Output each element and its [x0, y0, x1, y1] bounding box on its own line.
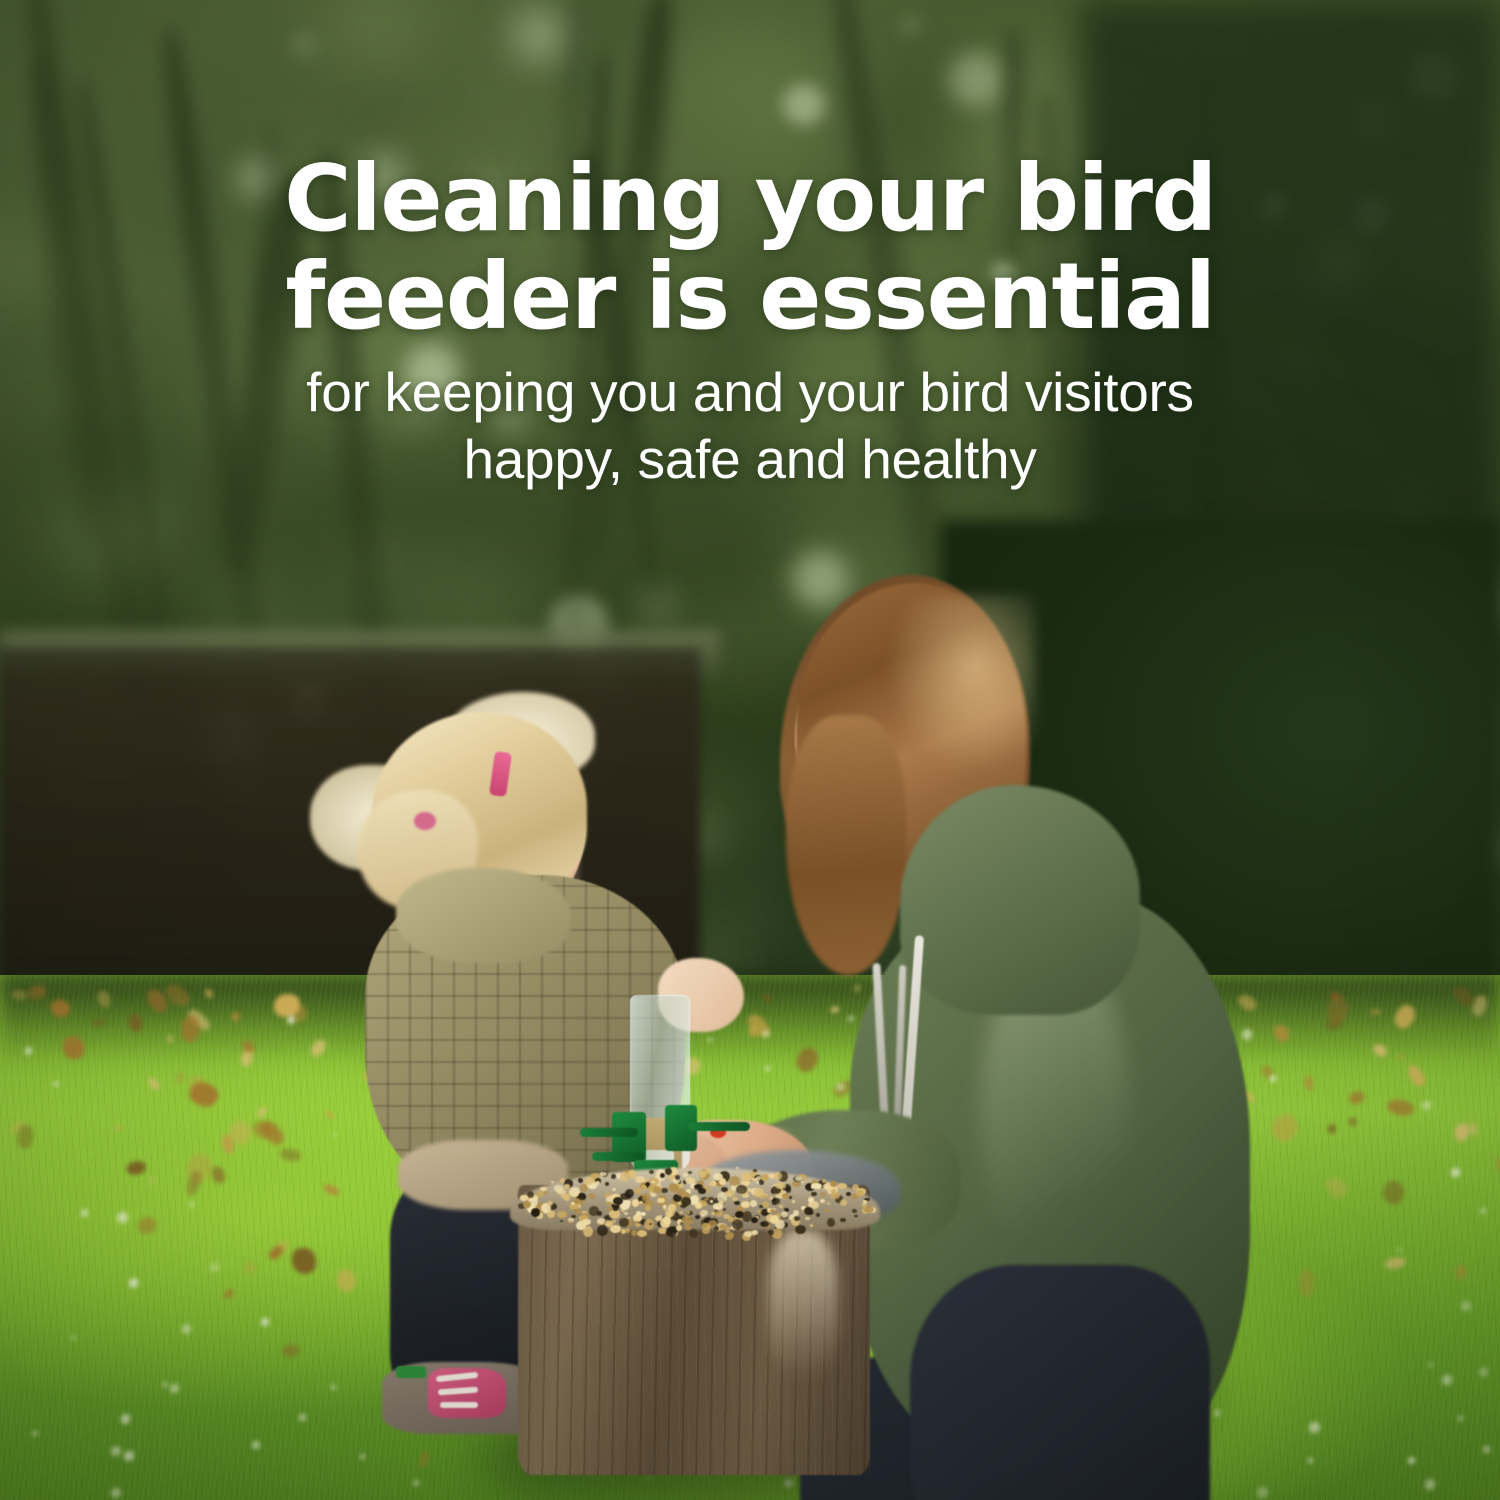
bird-seed	[578, 1178, 583, 1183]
bird-seed	[741, 1201, 750, 1208]
bird-seed	[561, 1193, 567, 1199]
child-jacket-hood	[396, 868, 571, 963]
bird-seed	[637, 1230, 647, 1237]
bird-seed	[762, 1201, 770, 1208]
bird-seed	[649, 1170, 654, 1174]
bird-seed	[571, 1202, 575, 1205]
bird-seed	[825, 1209, 828, 1212]
bird-seed	[537, 1191, 542, 1196]
tree-stump-highlight	[768, 1230, 838, 1380]
bird-seed	[770, 1215, 779, 1224]
bird-seed	[753, 1169, 757, 1172]
bird-seed	[827, 1202, 830, 1204]
grass-light-speck	[1309, 1422, 1320, 1433]
promo-image: ★ ★ ★ ★ ★	[0, 0, 1500, 1500]
bird-seed	[820, 1192, 825, 1197]
bird-seed	[794, 1216, 800, 1220]
feeder-perch-right	[688, 1122, 750, 1131]
bird-seed	[751, 1217, 757, 1223]
bird-seed	[595, 1181, 600, 1184]
grass-light-speck	[163, 1382, 167, 1386]
bird-seed	[635, 1223, 641, 1227]
child-boot-green-tab	[396, 1366, 426, 1378]
bird-seed	[619, 1218, 628, 1228]
bird-seed	[820, 1199, 825, 1203]
headline: Cleaning your bird feeder is essential	[0, 0, 1500, 345]
bird-seed	[801, 1181, 804, 1184]
bird-seed	[635, 1188, 641, 1194]
bird-seed	[761, 1210, 767, 1214]
bird-seed	[711, 1212, 715, 1215]
bird-seed	[770, 1209, 775, 1213]
grass-light-speck	[32, 1431, 38, 1437]
bird-seed	[679, 1211, 682, 1214]
bird-seed	[641, 1185, 646, 1190]
woman-leg-front	[910, 1265, 1210, 1500]
feeder-perch-left	[580, 1128, 638, 1137]
bird-seed	[732, 1197, 737, 1201]
grass-light-speck	[1451, 1168, 1460, 1177]
bird-seed	[660, 1218, 669, 1228]
bird-seed	[811, 1192, 816, 1197]
headline-line-1: Cleaning your bird	[284, 145, 1216, 252]
grass-light-speck	[129, 1278, 139, 1288]
bird-seed	[752, 1230, 757, 1235]
bird-seed	[704, 1198, 708, 1201]
bird-seed	[718, 1201, 724, 1206]
bird-seed	[635, 1176, 645, 1182]
grass-light-speck	[189, 1202, 193, 1206]
bird-seed	[612, 1220, 616, 1223]
grass-light-speck	[1480, 1208, 1486, 1214]
bird-seed	[772, 1201, 778, 1205]
bird-seed	[736, 1185, 747, 1193]
bird-seed	[708, 1182, 715, 1186]
bird-seed	[840, 1218, 846, 1222]
bird-seed	[685, 1225, 691, 1229]
grass-light-speck	[1308, 1458, 1313, 1463]
bird-seed	[613, 1197, 624, 1205]
bird-seed	[748, 1188, 752, 1193]
bird-seed	[665, 1168, 672, 1175]
grass-light-speck	[182, 1324, 192, 1334]
bird-seed	[729, 1176, 740, 1185]
bird-seed	[719, 1178, 725, 1185]
bird-seed	[721, 1187, 728, 1192]
bird-seed	[657, 1198, 664, 1203]
bird-seed	[639, 1201, 643, 1203]
bird-seed	[852, 1209, 857, 1212]
bird-seed	[681, 1197, 691, 1205]
grass-light-speck	[81, 1209, 88, 1216]
bird-seed	[642, 1193, 650, 1202]
subheadline-line-2: happy, safe and healthy	[0, 426, 1500, 493]
grass-light-speck	[170, 1384, 179, 1393]
bird-seed	[856, 1190, 864, 1196]
bird-seed	[695, 1215, 700, 1218]
text-overlay: Cleaning your bird feeder is essential f…	[0, 0, 1500, 493]
bird-seed	[695, 1202, 702, 1208]
grass-light-speck	[1270, 1075, 1276, 1081]
bird-seed	[702, 1228, 709, 1234]
bird-seed	[702, 1223, 707, 1227]
grass-light-speck	[1442, 1375, 1452, 1385]
bird-seed	[597, 1211, 602, 1216]
grass-light-speck	[124, 1451, 134, 1461]
bird-seed	[734, 1201, 740, 1205]
bird-seed	[698, 1188, 706, 1193]
bird-seed	[676, 1188, 685, 1196]
bird-seed	[761, 1174, 769, 1181]
grass-light-speck	[1425, 1479, 1435, 1489]
bird-seed	[782, 1193, 789, 1199]
bird-seed	[547, 1201, 553, 1206]
bird-seed	[612, 1188, 616, 1191]
boot-lace	[440, 1402, 478, 1408]
subheadline: for keeping you and your bird visitors h…	[0, 359, 1500, 493]
grass-light-speck	[1257, 1487, 1268, 1498]
bird-seed	[795, 1225, 806, 1234]
grass-light-speck	[210, 1263, 219, 1272]
grass-light-speck	[1461, 1301, 1471, 1311]
bird-seed	[520, 1195, 528, 1200]
bird-seed	[862, 1204, 868, 1208]
woman-jacket-hood	[900, 785, 1140, 1015]
bird-seed	[723, 1208, 727, 1210]
bird-seed	[671, 1207, 675, 1211]
bird-seed	[564, 1184, 571, 1188]
bird-seed	[632, 1199, 639, 1207]
bird-seed	[663, 1205, 666, 1207]
bird-seed	[831, 1189, 835, 1193]
bird-seed	[580, 1221, 586, 1227]
bird-seed	[653, 1186, 661, 1194]
bird-seed	[846, 1192, 852, 1196]
subheadline-line-1: for keeping you and your bird visitors	[306, 361, 1193, 423]
bird-seed	[768, 1230, 774, 1235]
bird-seed	[569, 1220, 572, 1222]
child-hair-tie	[414, 812, 436, 830]
grass-light-speck	[1483, 1446, 1490, 1453]
bird-seed	[651, 1181, 654, 1183]
bird-seed	[531, 1208, 540, 1216]
bird-seed	[822, 1179, 826, 1182]
bird-seed	[715, 1210, 723, 1217]
bird-seed	[610, 1225, 620, 1233]
bird-seed	[557, 1211, 567, 1218]
bird-seed	[795, 1176, 802, 1181]
bird-seed	[683, 1173, 688, 1177]
bird-seed	[779, 1205, 783, 1208]
bird-seed	[723, 1214, 730, 1219]
fallen-leaf	[93, 1018, 105, 1027]
grass-light-speck	[1458, 1416, 1463, 1421]
bird-seed	[775, 1182, 785, 1189]
headline-line-2: feeder is essential	[0, 248, 1500, 346]
bird-seed	[789, 1196, 792, 1198]
fallen-leaf	[1370, 1008, 1381, 1014]
woman-hair-sunlight	[885, 595, 1035, 775]
bird-seed	[676, 1225, 682, 1231]
bird-seed	[688, 1171, 692, 1174]
